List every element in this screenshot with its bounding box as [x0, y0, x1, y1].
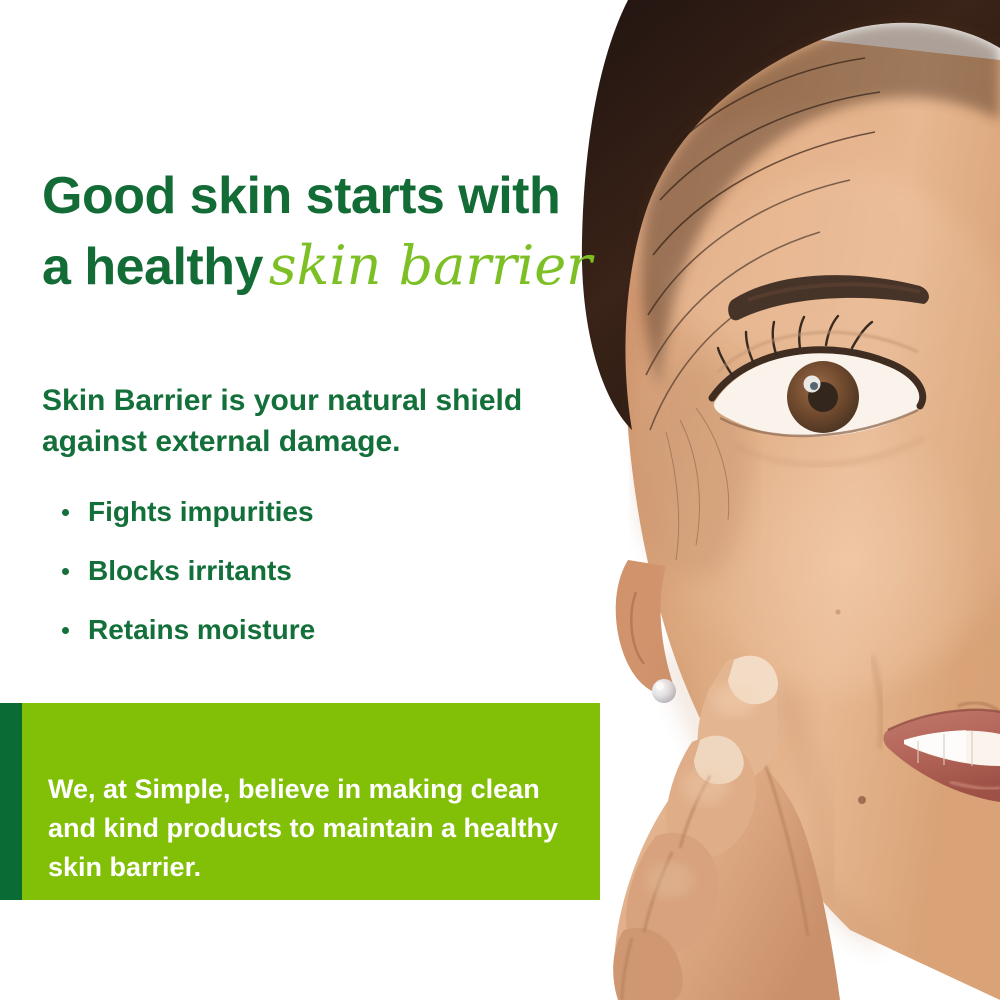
- page-title: Good skin starts with a healthyskin barr…: [42, 161, 622, 302]
- benefit-label: Blocks irritants: [88, 555, 292, 586]
- subheading: Skin Barrier is your natural shield agai…: [42, 380, 602, 462]
- list-item: Retains moisture: [60, 613, 560, 647]
- headline-line-1: Good skin starts with: [42, 167, 560, 225]
- pearl-earring: [652, 679, 676, 703]
- brand-statement-banner: We, at Simple, believe in making clean a…: [0, 703, 600, 900]
- banner-text: We, at Simple, believe in making clean a…: [48, 770, 568, 887]
- bullet-dot-icon: [62, 509, 69, 516]
- advertisement-canvas: Good skin starts with a healthyskin barr…: [0, 0, 1000, 1000]
- bullet-dot-icon: [62, 627, 69, 634]
- headline-script-accent: skin barrier: [263, 234, 592, 297]
- benefits-list: Fights impurities Blocks irritants Retai…: [60, 495, 560, 672]
- list-item: Blocks irritants: [60, 554, 560, 588]
- bullet-dot-icon: [62, 568, 69, 575]
- beauty-mark: [858, 796, 866, 804]
- list-item: Fights impurities: [60, 495, 560, 529]
- banner-accent-stripe: [0, 703, 22, 900]
- headline-line-2-plain: a healthy: [42, 238, 263, 296]
- benefit-label: Retains moisture: [88, 614, 315, 645]
- benefit-label: Fights impurities: [88, 496, 314, 527]
